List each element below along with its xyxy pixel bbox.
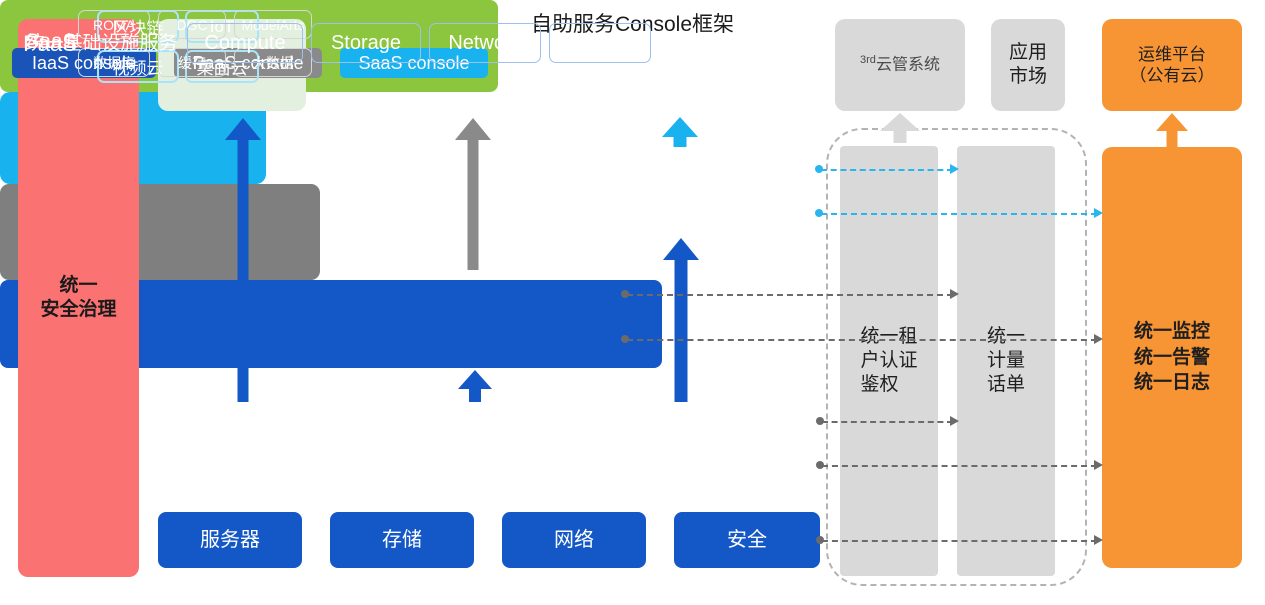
arrow-infra-to-paas [458,370,492,402]
connector-arrowhead-infra-ops [1094,460,1103,470]
third-party-cloud-management-box: 3rd云管系统 [835,19,965,111]
ops-platform-public-cloud-label: 运维平台 （公有云） [1130,44,1215,87]
third-party-superscript: 3rd [860,54,876,66]
connector-saas-to-auth [821,169,953,171]
arrow-shared-to-third-party [880,113,920,143]
unified-security-governance-panel: 统一 安全治理 [18,19,139,577]
shared-service-auth-label: 统一租 户认证 鉴权 [860,325,917,398]
arrow-infra-to-api-gateway [225,118,261,402]
connector-arrowhead-resources-ops [1094,535,1103,545]
resource-box-security: 安全 [674,512,820,568]
app-market-box: 应用 市场 [991,19,1065,111]
unified-monitoring-panel: 统一监控 统一告警 统一日志 [1102,147,1242,568]
arrow-saas-to-console [662,117,698,147]
infra-chip-network[interactable]: Network [429,23,541,63]
connector-arrowhead-infra-auth [950,416,959,426]
resource-label-security: 安全 [727,528,767,553]
third-party-cloud-management-label: 3rd云管系统 [860,54,940,75]
shared-service-column-metering: 统一 计量 话单 [957,146,1055,576]
infra-chip-cce[interactable]: CCE [549,23,651,63]
resource-box-server: 服务器 [158,512,302,568]
resource-box-network: 网络 [502,512,646,568]
resource-label-network: 网络 [554,528,594,553]
connector-arrowhead-paas-auth [950,289,959,299]
infra-chip-storage[interactable]: Storage [311,23,421,63]
connector-infra-to-auth [822,421,953,423]
connector-infra-to-ops [822,465,1097,467]
resource-label-server: 服务器 [200,528,260,553]
unified-monitoring-label: 统一监控 统一告警 统一日志 [1134,319,1210,396]
arrow-ops-right-to-ops-top [1156,113,1188,148]
app-market-label: 应用 市场 [1009,41,1047,89]
connector-arrowhead-paas-ops [1094,334,1103,344]
connector-paas-to-auth [627,294,953,296]
connector-saas-to-ops [821,213,1097,215]
unified-security-governance-label: 统一 安全治理 [40,274,116,322]
connector-resources-to-ops [822,540,1097,542]
shared-service-metering-label: 统一 计量 话单 [987,325,1025,398]
arrow-paas-to-console [455,118,491,270]
architecture-diagram: 统一 安全治理 API网关 自助服务Console框架 IaaS console… [0,0,1265,605]
infra-chip-compute[interactable]: Compute [187,23,303,63]
connector-paas-to-ops [627,339,1097,341]
shared-service-column-auth: 统一租 户认证 鉴权 [840,146,938,576]
ops-platform-public-cloud-box: 运维平台 （公有云） [1102,19,1242,111]
third-party-main-label: 云管系统 [876,57,940,74]
resource-label-storage: 存储 [382,528,422,553]
resource-box-storage: 存储 [330,512,474,568]
connector-arrowhead-saas-ops [1094,208,1103,218]
connector-arrowhead-saas-auth [950,164,959,174]
unified-infrastructure-service-label: 统一基础设施服务 [14,28,189,55]
arrow-infra-to-saas [663,238,699,402]
